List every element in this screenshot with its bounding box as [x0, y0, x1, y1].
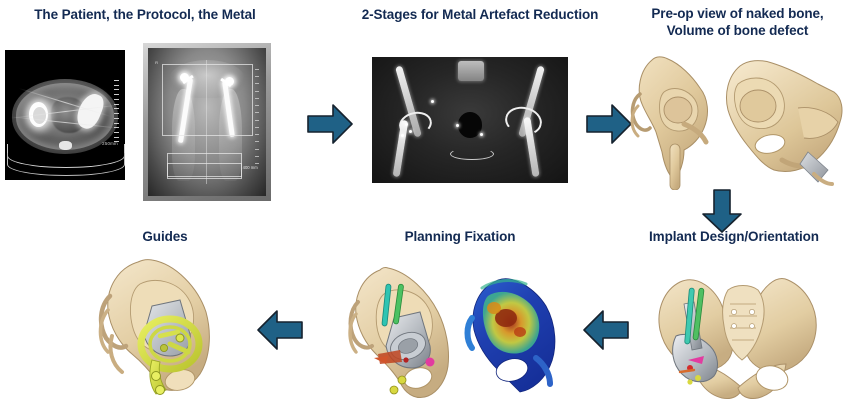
right-hemipelvis: [727, 61, 843, 184]
scout-ruler: [253, 66, 259, 170]
hemipelvis-bone-pair-3d-image: [622, 48, 850, 190]
marker-yellow: [695, 375, 701, 381]
ct-coronal-pelvis-image: [372, 57, 568, 183]
left-hemipelvis: [632, 57, 707, 190]
marker-yellow: [398, 376, 406, 384]
marker-red: [403, 357, 408, 362]
heading-step-6: Guides: [95, 228, 235, 245]
heading-step-3-line2: Volume of bone defect: [625, 22, 850, 39]
scout-film-area: 400 mm R: [148, 48, 266, 196]
ct-coronal-bladder: [458, 112, 482, 137]
heading-step-3-line1: Pre-op view of naked bone,: [625, 5, 850, 22]
heading-step-5: Planning Fixation: [360, 228, 560, 245]
ct-coronal-sacrum: [458, 61, 483, 81]
arrow-step5-to-step6: [256, 308, 304, 357]
heading-step-3: Pre-op view of naked bone, Volume of bon…: [625, 5, 850, 39]
heading-step-2: 2-Stages for Metal Artefact Reduction: [330, 6, 630, 23]
full-pelvis-implant-3d-image: [636, 256, 850, 406]
ct-axial-ruler: [112, 79, 119, 147]
ct-coronal-metal-fragment: [431, 100, 434, 103]
guide-screw-hole: [152, 372, 161, 381]
scout-scan-range-box: [162, 64, 253, 136]
hemipelvis-surgical-guide-3d-image: [94, 252, 230, 406]
scout-scan-range-box: [167, 163, 242, 177]
heading-step-1: The Patient, the Protocol, the Metal: [0, 6, 290, 23]
hemipelvis-fixation-3d-image: [344, 258, 466, 406]
ct-coronal-pubic-ramus: [450, 148, 493, 160]
marker-magenta: [426, 358, 435, 367]
marker-yellow: [390, 386, 398, 394]
ct-axial-table-line: [7, 153, 124, 176]
ct-coronal-metal-fragment: [405, 123, 408, 126]
scout-radiograph-hips-image: 400 mm R: [143, 43, 271, 201]
scout-corner-label: R: [155, 60, 158, 65]
ct-axial-pelvis-image: 250mm: [5, 50, 125, 180]
guide-screw-hole: [176, 334, 184, 342]
marker-yellow: [687, 379, 692, 384]
hemipelvis-fea-stress-map-image: [464, 272, 580, 394]
arrow-step1-to-step2: [306, 102, 354, 151]
ct-coronal-metal-fragment: [480, 133, 483, 136]
ct-axial-scale-label: 250mm: [102, 141, 118, 146]
guide-screw-hole: [160, 344, 167, 351]
arrow-step4-to-step5: [582, 308, 630, 357]
arrow-step3-to-step4: [700, 188, 744, 239]
scout-scale-label: 400 mm: [243, 165, 258, 170]
guide-screw-hole: [156, 386, 165, 395]
